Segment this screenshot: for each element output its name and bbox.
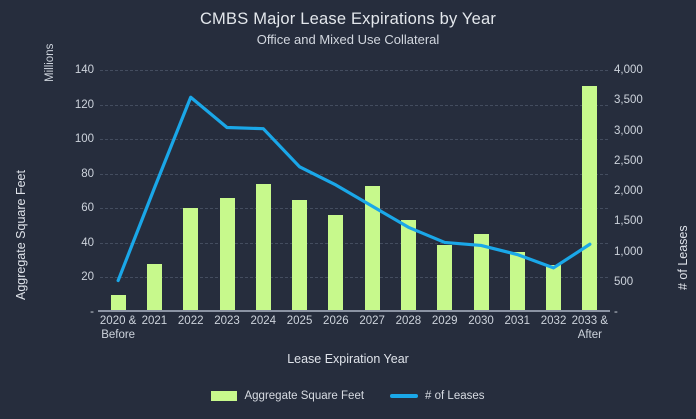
legend-line-swatch-icon — [390, 394, 418, 398]
y-axis-right-ticks: -5001,0001,5002,0002,5003,0003,5004,000 — [614, 70, 666, 312]
y-axis-left-tick: 120 — [75, 99, 94, 111]
chart-title-block: CMBS Major Lease Expirations by Year Off… — [0, 8, 696, 49]
x-axis-tick: 2033 & After — [566, 314, 614, 342]
legend-item[interactable]: Aggregate Square Feet — [211, 390, 364, 402]
legend-label: Aggregate Square Feet — [244, 390, 364, 402]
line-path — [118, 97, 590, 280]
y-axis-left-tick: 80 — [81, 168, 94, 180]
y-axis-right-tick: 4,000 — [614, 64, 643, 76]
y-axis-right-tick: - — [614, 306, 618, 318]
y-axis-left-tick: 60 — [81, 202, 94, 214]
chart-title: CMBS Major Lease Expirations by Year — [0, 8, 696, 30]
y-axis-left-title: Aggregate Square Feet — [14, 170, 28, 300]
y-axis-left-tick: 40 — [81, 237, 94, 249]
x-axis-title: Lease Expiration Year — [0, 352, 696, 366]
line-series — [100, 70, 608, 312]
legend-bar-swatch-icon — [211, 391, 237, 401]
legend-item[interactable]: # of Leases — [390, 390, 484, 402]
y-axis-right-tick: 1,000 — [614, 246, 643, 258]
chart-legend: Aggregate Square Feet# of Leases — [0, 390, 696, 402]
y-axis-left-tick: 140 — [75, 64, 94, 76]
plot-area — [100, 70, 608, 312]
y-axis-right-tick: 3,000 — [614, 125, 643, 137]
y-axis-left-tick: 100 — [75, 133, 94, 145]
legend-label: # of Leases — [425, 390, 484, 402]
y-axis-left-tick: 20 — [81, 271, 94, 283]
x-axis-ticks: 2020 & Before202120222023202420252026202… — [100, 314, 608, 348]
y-axis-right-title: # of Leases — [676, 225, 690, 290]
y-axis-right-tick: 500 — [614, 276, 633, 288]
y-axis-right-tick: 3,500 — [614, 94, 643, 106]
y-axis-right-tick: 2,500 — [614, 155, 643, 167]
y-axis-right-tick: 1,500 — [614, 215, 643, 227]
chart-container: CMBS Major Lease Expirations by Year Off… — [0, 0, 696, 419]
x-axis-baseline — [98, 310, 610, 312]
y-axis-left-ticks: -20406080100120140 — [44, 70, 94, 312]
chart-subtitle: Office and Mixed Use Collateral — [0, 31, 696, 49]
y-axis-right-tick: 2,000 — [614, 185, 643, 197]
